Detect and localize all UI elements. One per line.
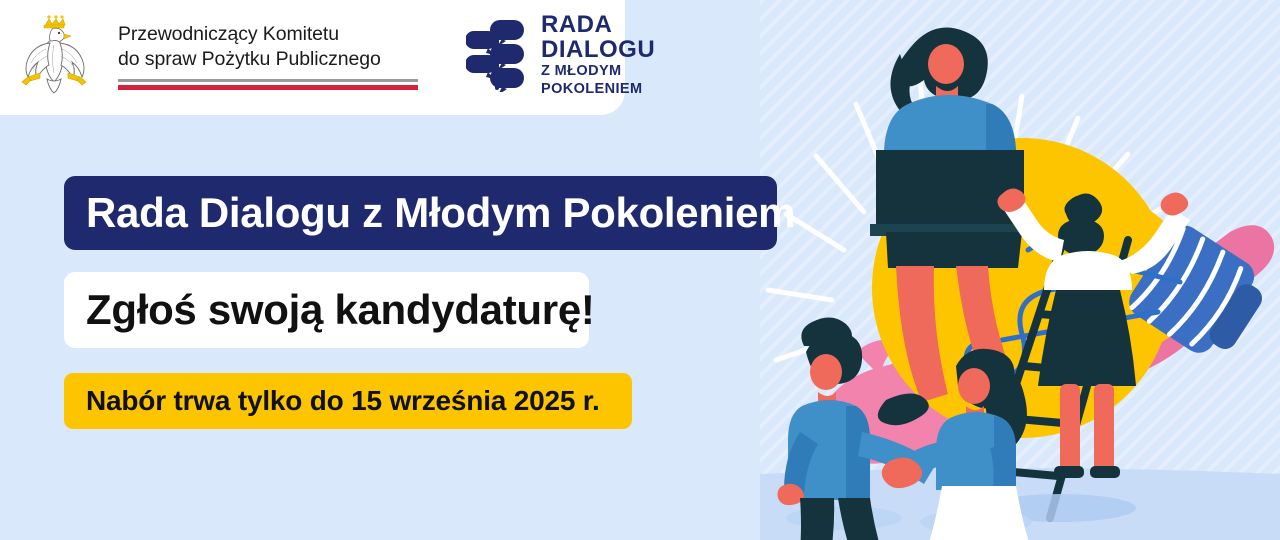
- cta-banner: Zgłoś swoją kandydaturę!: [64, 272, 589, 348]
- ministry-line-1: Przewodniczący Komitetu: [118, 22, 418, 47]
- cta-banner-text: Zgłoś swoją kandydaturę!: [86, 286, 595, 334]
- lightbulb-teamwork-illustration: [760, 0, 1280, 540]
- deadline-banner: Nabór trwa tylko do 15 września 2025 r.: [64, 373, 632, 429]
- rdmp-line-dialogu: DIALOGU: [541, 37, 655, 62]
- title-banner-text: Rada Dialogu z Młodym Pokoleniem: [86, 189, 795, 237]
- rdmp-wordmark: RADA DIALOGU Z MŁODYM POKOLENIEM: [541, 12, 655, 98]
- rdmp-logo: RADA DIALOGU Z MŁODYM POKOLENIEM: [466, 12, 655, 98]
- header-logo-card: Przewodniczący Komitetu do spraw Pożytku…: [0, 0, 625, 115]
- rule-red: [118, 85, 418, 90]
- rdmp-line-rada: RADA: [541, 12, 655, 37]
- rule-grey: [118, 79, 418, 82]
- deadline-banner-text: Nabór trwa tylko do 15 września 2025 r.: [86, 385, 600, 417]
- rdmp-line-pokoleniem: POKOLENIEM: [541, 80, 655, 98]
- ministry-title-block: Przewodniczący Komitetu do spraw Pożytku…: [118, 22, 418, 90]
- polish-flag-rule: [118, 79, 418, 90]
- rdmp-line-z-mlodym: Z MŁODYM: [541, 62, 655, 80]
- title-banner: Rada Dialogu z Młodym Pokoleniem: [64, 176, 777, 250]
- ministry-line-2: do spraw Pożytku Publicznego: [118, 47, 418, 72]
- speech-bubble-plant-icon: [466, 18, 528, 92]
- promo-banner: Przewodniczący Komitetu do spraw Pożytku…: [0, 0, 1280, 540]
- polish-eagle-emblem-icon: [16, 13, 92, 99]
